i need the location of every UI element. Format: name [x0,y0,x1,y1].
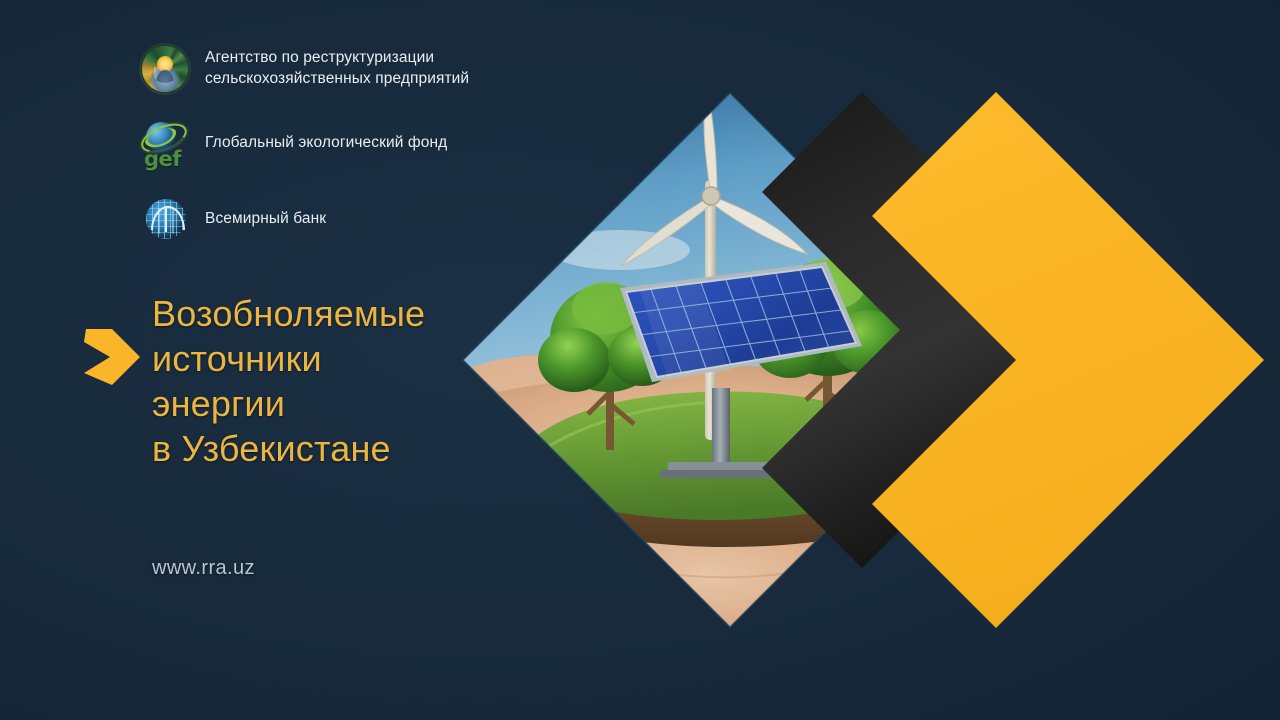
title-line-1: Возобноляемые [152,291,492,336]
title-line-3: энергии [152,381,492,426]
title-line-4: в Узбекистане [152,426,492,471]
title-line-2: источники [152,336,492,381]
partner-logo-list: Агентство по реструктуризации сельскохоз… [140,44,560,272]
partner-label-agency: Агентство по реструктуризации сельскохоз… [205,44,535,89]
dark-chevron [762,92,1100,568]
green-hill [512,391,924,520]
partner-row-gef: gef Глобальный экологический фонд [140,120,560,172]
tree-right [752,258,904,450]
tree-left [538,282,676,450]
soil-layer [520,466,930,547]
chevron-right-icon [84,329,140,386]
partner-row-agency: Агентство по реструктуризации сельскохоз… [140,44,560,96]
partner-label-world-bank: Всемирный банк [205,196,326,230]
wind-turbine-small [857,134,954,460]
uzbekistan-state-emblem-icon [140,44,190,94]
clouds [550,184,920,342]
slide-canvas: Агентство по реструктуризации сельскохоз… [0,0,1280,720]
gef-wordmark: gef [144,147,181,171]
partner-label-gef: Глобальный экологический фонд [205,120,447,154]
website-url[interactable]: www.rra.uz [152,557,255,580]
partner-row-world-bank: Всемирный банк [140,196,560,248]
open-hand [470,354,975,626]
world-bank-globe-icon [140,196,190,246]
page-title: Возобноляемые источники энергии в Узбеки… [152,291,492,471]
yellow-chevron [872,92,1264,628]
gef-globe-icon: gef [140,120,190,170]
wind-turbine [621,88,807,440]
solar-panel [620,262,862,478]
